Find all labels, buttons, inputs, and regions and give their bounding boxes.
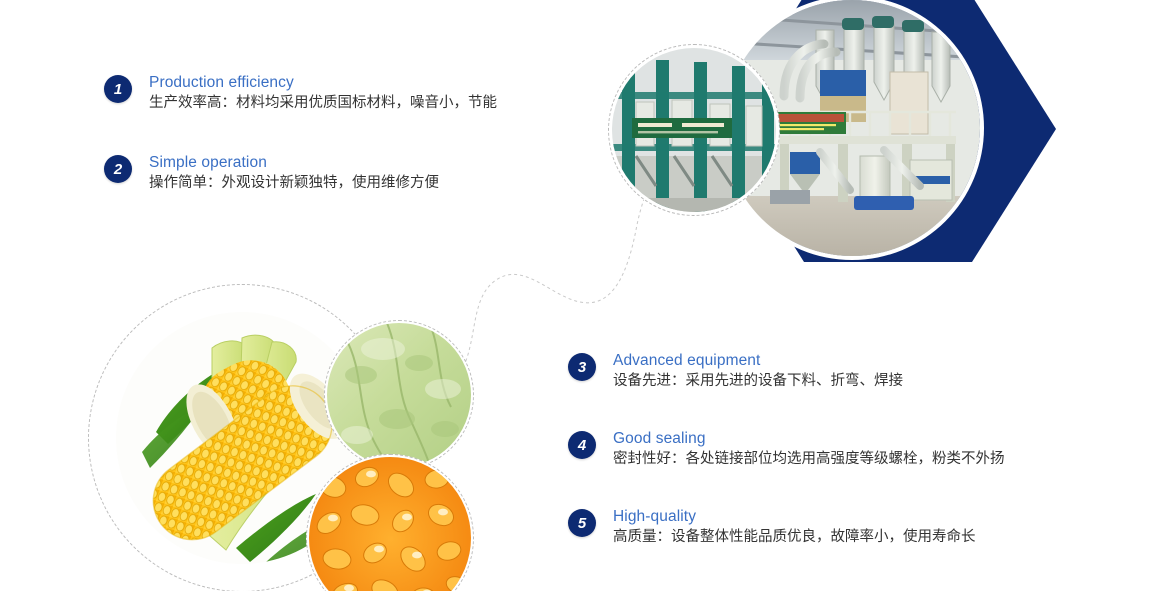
promo-banner: 1 Production efficiency 生产效率高：材料均采用优质国标材…	[0, 0, 1154, 591]
feature-description-1: 生产效率高：材料均采用优质国标材料，噪音小，节能	[149, 93, 497, 114]
feature-description-5: 高质量：设备整体性能品质优良，故障率小，使用寿命长	[613, 527, 976, 548]
feature-item-2: 2 Simple operation 操作简单：外观设计新颖独特，使用维修方便	[104, 153, 439, 194]
secondary-plant-photo	[608, 44, 780, 216]
feature-badge-2: 2	[104, 155, 132, 183]
feature-badge-5: 5	[568, 509, 596, 537]
feature-badge-4: 4	[568, 431, 596, 459]
feature-item-3: 3 Advanced equipment 设备先进：采用先进的设备下料、折弯、焊…	[568, 351, 903, 392]
feature-badge-3: 3	[568, 353, 596, 381]
feature-description-4: 密封性好：各处链接部位均选用高强度等级螺栓，粉类不外扬	[613, 449, 1005, 470]
corn-image-cluster	[88, 284, 488, 591]
hexagon-image-cluster	[672, 0, 1102, 268]
feature-description-2: 操作简单：外观设计新颖独特，使用维修方便	[149, 173, 439, 194]
feature-badge-1: 1	[104, 75, 132, 103]
feature-item-4: 4 Good sealing 密封性好：各处链接部位均选用高强度等级螺栓，粉类不…	[568, 429, 1005, 470]
feature-heading-1: Production efficiency	[149, 73, 497, 92]
feature-description-3: 设备先进：采用先进的设备下料、折弯、焊接	[613, 371, 903, 392]
feature-heading-5: High-quality	[613, 507, 976, 526]
feature-item-5: 5 High-quality 高质量：设备整体性能品质优良，故障率小，使用寿命长	[568, 507, 976, 548]
feature-heading-3: Advanced equipment	[613, 351, 903, 370]
feature-heading-4: Good sealing	[613, 429, 1005, 448]
feature-heading-2: Simple operation	[149, 153, 439, 172]
corn-paste-photo	[324, 320, 474, 470]
feature-item-1: 1 Production efficiency 生产效率高：材料均采用优质国标材…	[104, 73, 497, 114]
